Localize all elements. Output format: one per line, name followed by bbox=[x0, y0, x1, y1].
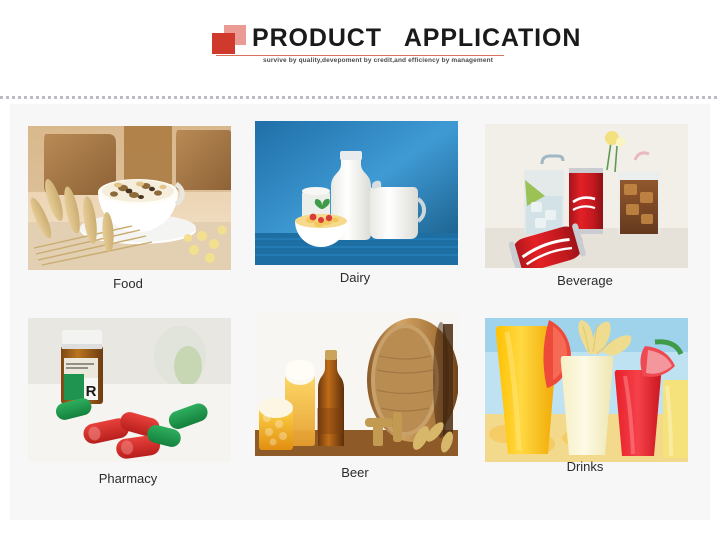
food-photo bbox=[28, 126, 231, 270]
dairy-photo bbox=[255, 121, 458, 265]
gallery-row-bottom: R bbox=[10, 310, 710, 506]
gallery-item-label: Food bbox=[16, 276, 240, 292]
dotted-divider bbox=[0, 96, 720, 99]
gallery-item-beer[interactable]: Beer bbox=[243, 310, 467, 506]
gallery-item-label: Dairy bbox=[243, 270, 467, 286]
gallery-item-label: Beverage bbox=[473, 273, 697, 289]
gallery-item-food[interactable]: Food bbox=[16, 118, 240, 308]
title-word-product: PRODUCT bbox=[252, 21, 382, 55]
gallery-item-label: Pharmacy bbox=[16, 471, 240, 487]
gallery-panel: Food bbox=[10, 104, 710, 520]
svg-text:R: R bbox=[86, 383, 97, 400]
gallery-row-top: Food bbox=[10, 118, 710, 308]
beer-photo bbox=[255, 312, 458, 456]
overlapping-squares-logo-icon bbox=[212, 25, 248, 55]
page-subtitle: survive by quality,devepoment by credit,… bbox=[248, 57, 508, 64]
gallery-item-pharmacy[interactable]: R bbox=[16, 310, 240, 506]
title-underline-rule bbox=[216, 55, 504, 56]
logo-square-front bbox=[212, 33, 235, 54]
title-word-application: APPLICATION bbox=[404, 21, 582, 55]
gallery-item-drinks[interactable]: Drinks bbox=[473, 310, 697, 506]
page-title: PRODUCT APPLICATION bbox=[252, 21, 581, 55]
gallery-item-dairy[interactable]: Dairy bbox=[243, 118, 467, 308]
page-header: PRODUCT APPLICATION survive by quality,d… bbox=[0, 0, 720, 97]
gallery-item-label: Beer bbox=[243, 465, 467, 481]
pharmacy-photo: R bbox=[28, 318, 231, 462]
gallery-item-label: Drinks bbox=[473, 459, 697, 475]
gallery-item-beverage[interactable]: Beverage bbox=[473, 118, 697, 308]
brand-block: PRODUCT APPLICATION survive by quality,d… bbox=[212, 21, 508, 71]
beverage-photo bbox=[485, 124, 688, 268]
drinks-photo bbox=[485, 318, 688, 462]
